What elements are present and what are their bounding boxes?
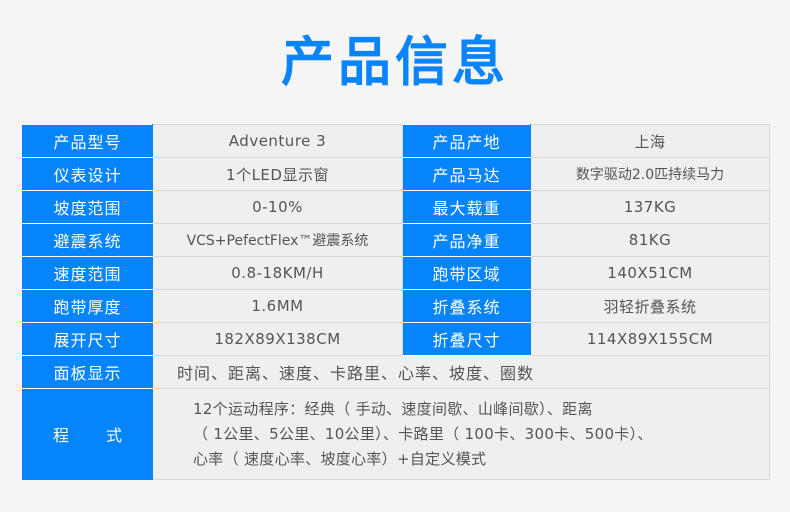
product-spec-table: 产品型号 Adventure 3 产品产地 上海 仪表设计 1个LED显示窗 产…	[22, 124, 770, 480]
program-line-2: （ 1公里、5公里、10公里）、卡路里（ 100卡、300卡、500卡）、	[193, 422, 759, 447]
spec-label-folding-system: 折叠系统	[403, 290, 531, 323]
spec-label-incline-range: 坡度范围	[23, 191, 153, 224]
spec-label-motor: 产品马达	[403, 158, 531, 191]
table-row: 避震系统 VCS+PefectFlex™避震系统 产品净重 81KG	[23, 224, 770, 257]
spec-label-shock-system: 避震系统	[23, 224, 153, 257]
table-row: 速度范围 0.8-18KM/H 跑带区域 140X51CM	[23, 257, 770, 290]
program-line-3: 心率（ 速度心率、坡度心率）+自定义模式	[193, 447, 759, 472]
spec-value-origin: 上海	[531, 125, 770, 158]
spec-value-belt-thickness: 1.6MM	[153, 290, 403, 323]
spec-label-product-model: 产品型号	[23, 125, 153, 158]
spec-value-motor: 数字驱动2.0匹持续马力	[531, 158, 770, 191]
program-line-1: 12个运动程序：经典（ 手动、速度间歇、山峰间歇）、距离	[193, 397, 759, 422]
spec-value-shock-system: VCS+PefectFlex™避震系统	[153, 224, 403, 257]
spec-label-net-weight: 产品净重	[403, 224, 531, 257]
product-info-page: 产品信息 产品型号 Adventure 3 产品产地 上海 仪表设计 1个LED…	[0, 0, 790, 512]
table-row-programs: 程 式 12个运动程序：经典（ 手动、速度间歇、山峰间歇）、距离 （ 1公里、5…	[23, 389, 770, 480]
table-row: 仪表设计 1个LED显示窗 产品马达 数字驱动2.0匹持续马力	[23, 158, 770, 191]
table-row: 坡度范围 0-10% 最大载重 137KG	[23, 191, 770, 224]
spec-label-belt-thickness: 跑带厚度	[23, 290, 153, 323]
spec-label-console-design: 仪表设计	[23, 158, 153, 191]
spec-label-max-load: 最大载重	[403, 191, 531, 224]
table-row-panel-display: 面板显示 时间、距离、速度、卡路里、心率、坡度、圈数	[23, 356, 770, 389]
spec-label-panel-display: 面板显示	[23, 356, 153, 389]
spec-value-folded-size: 114X89X155CM	[531, 323, 770, 356]
spec-value-belt-area: 140X51CM	[531, 257, 770, 290]
spec-value-unfolded-size: 182X89X138CM	[153, 323, 403, 356]
spec-value-net-weight: 81KG	[531, 224, 770, 257]
table-row: 展开尺寸 182X89X138CM 折叠尺寸 114X89X155CM	[23, 323, 770, 356]
spec-value-speed-range: 0.8-18KM/H	[153, 257, 403, 290]
spec-value-product-model: Adventure 3	[153, 125, 403, 158]
spec-value-incline-range: 0-10%	[153, 191, 403, 224]
spec-label-folded-size: 折叠尺寸	[403, 323, 531, 356]
spec-value-console-design: 1个LED显示窗	[153, 158, 403, 191]
spec-label-programs: 程 式	[23, 389, 153, 480]
spec-value-panel-display: 时间、距离、速度、卡路里、心率、坡度、圈数	[153, 356, 770, 389]
spec-label-origin: 产品产地	[403, 125, 531, 158]
spec-label-speed-range: 速度范围	[23, 257, 153, 290]
spec-label-belt-area: 跑带区域	[403, 257, 531, 290]
spec-label-unfolded-size: 展开尺寸	[23, 323, 153, 356]
table-row: 跑带厚度 1.6MM 折叠系统 羽轻折叠系统	[23, 290, 770, 323]
spec-table-body: 产品型号 Adventure 3 产品产地 上海 仪表设计 1个LED显示窗 产…	[23, 125, 770, 480]
spec-value-folding-system: 羽轻折叠系统	[531, 290, 770, 323]
table-row: 产品型号 Adventure 3 产品产地 上海	[23, 125, 770, 158]
spec-value-max-load: 137KG	[531, 191, 770, 224]
page-title: 产品信息	[0, 0, 790, 89]
spec-value-programs: 12个运动程序：经典（ 手动、速度间歇、山峰间歇）、距离 （ 1公里、5公里、1…	[153, 389, 770, 480]
